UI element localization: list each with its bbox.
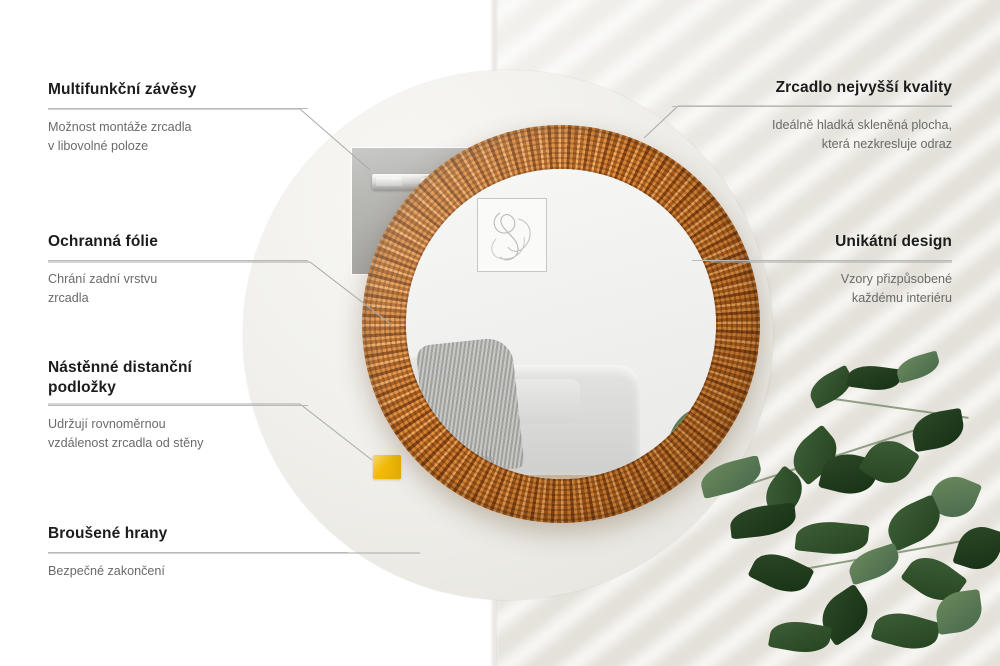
callout-protective-film: Ochranná fólie Chrání zadní vrstvu zrcad… [48,232,308,308]
callout-unique-design-title: Unikátní design [692,232,952,252]
reflection-line-art-frame [478,199,546,271]
body-line: zrcadla [48,291,89,305]
callout-protective-film-body: Chrání zadní vrstvu zrcadla [48,270,308,308]
leaf [952,521,1000,576]
body-line: Vzory přizpůsobené [841,272,952,286]
leaf [847,362,902,393]
leaf [909,408,966,452]
body-line: vzdálenost zrcadla od stěny [48,436,203,450]
callout-rule [692,260,952,261]
callout-top-quality-body: Ideálně hladká skleněná plocha, která ne… [672,116,952,154]
line-art-icon [478,199,546,271]
callout-wall-spacers: Nástěnné distanční podložky Udržují rovn… [48,358,308,453]
leaf [871,606,942,656]
body-line: Udržují rovnoměrnou [48,417,166,431]
body-line: v libovolné poloze [48,139,148,153]
callout-unique-design-body: Vzory přizpůsobené každému interiéru [692,270,952,308]
callout-ground-edges-title: Broušené hrany [48,524,348,544]
body-line: Možnost montáže zrcadla [48,120,192,134]
callout-rule [48,260,308,261]
leaf [894,350,942,383]
callout-unique-design: Unikátní design Vzory přizpůsobené každé… [692,232,952,308]
callout-top-quality-title: Zrcadlo nejvyšší kvality [672,78,952,98]
callout-rule [672,106,952,107]
callout-rule [48,405,308,406]
infographic-canvas: Multifunkční závěsy Možnost montáže zrca… [0,0,1000,666]
callout-hangers: Multifunkční závěsy Možnost montáže zrca… [48,80,308,156]
callout-rule [48,552,348,553]
callout-hangers-body: Možnost montáže zrcadla v libovolné polo… [48,118,308,156]
callout-protective-film-title: Ochranná fólie [48,232,308,252]
body-line: Ideálně hladká skleněná plocha, [772,118,952,132]
leaf [795,518,870,557]
callout-hangers-title: Multifunkční závěsy [48,80,308,100]
body-line: která nezkresluje odraz [822,137,952,151]
body-line: Chrání zadní vrstvu [48,272,157,286]
green-foliage-plant [700,336,1000,666]
callout-rule [48,108,308,109]
mirror-glass-surface [406,169,716,479]
leaf [747,545,814,601]
body-line: každému interiéru [852,291,952,305]
callout-ground-edges: Broušené hrany Bezpečné zakončení [48,524,348,581]
callout-wall-spacers-title: Nástěnné distanční podložky [48,358,308,397]
callout-top-quality-mirror: Zrcadlo nejvyšší kvality Ideálně hladká … [672,78,952,154]
leaf [697,455,764,499]
callout-ground-edges-body: Bezpečné zakončení [48,562,348,581]
callout-wall-spacers-body: Udržují rovnoměrnou vzdálenost zrcadla o… [48,415,308,453]
title-line: podložky [48,379,116,396]
title-line: Nástěnné distanční [48,359,192,376]
leaf [729,503,798,540]
